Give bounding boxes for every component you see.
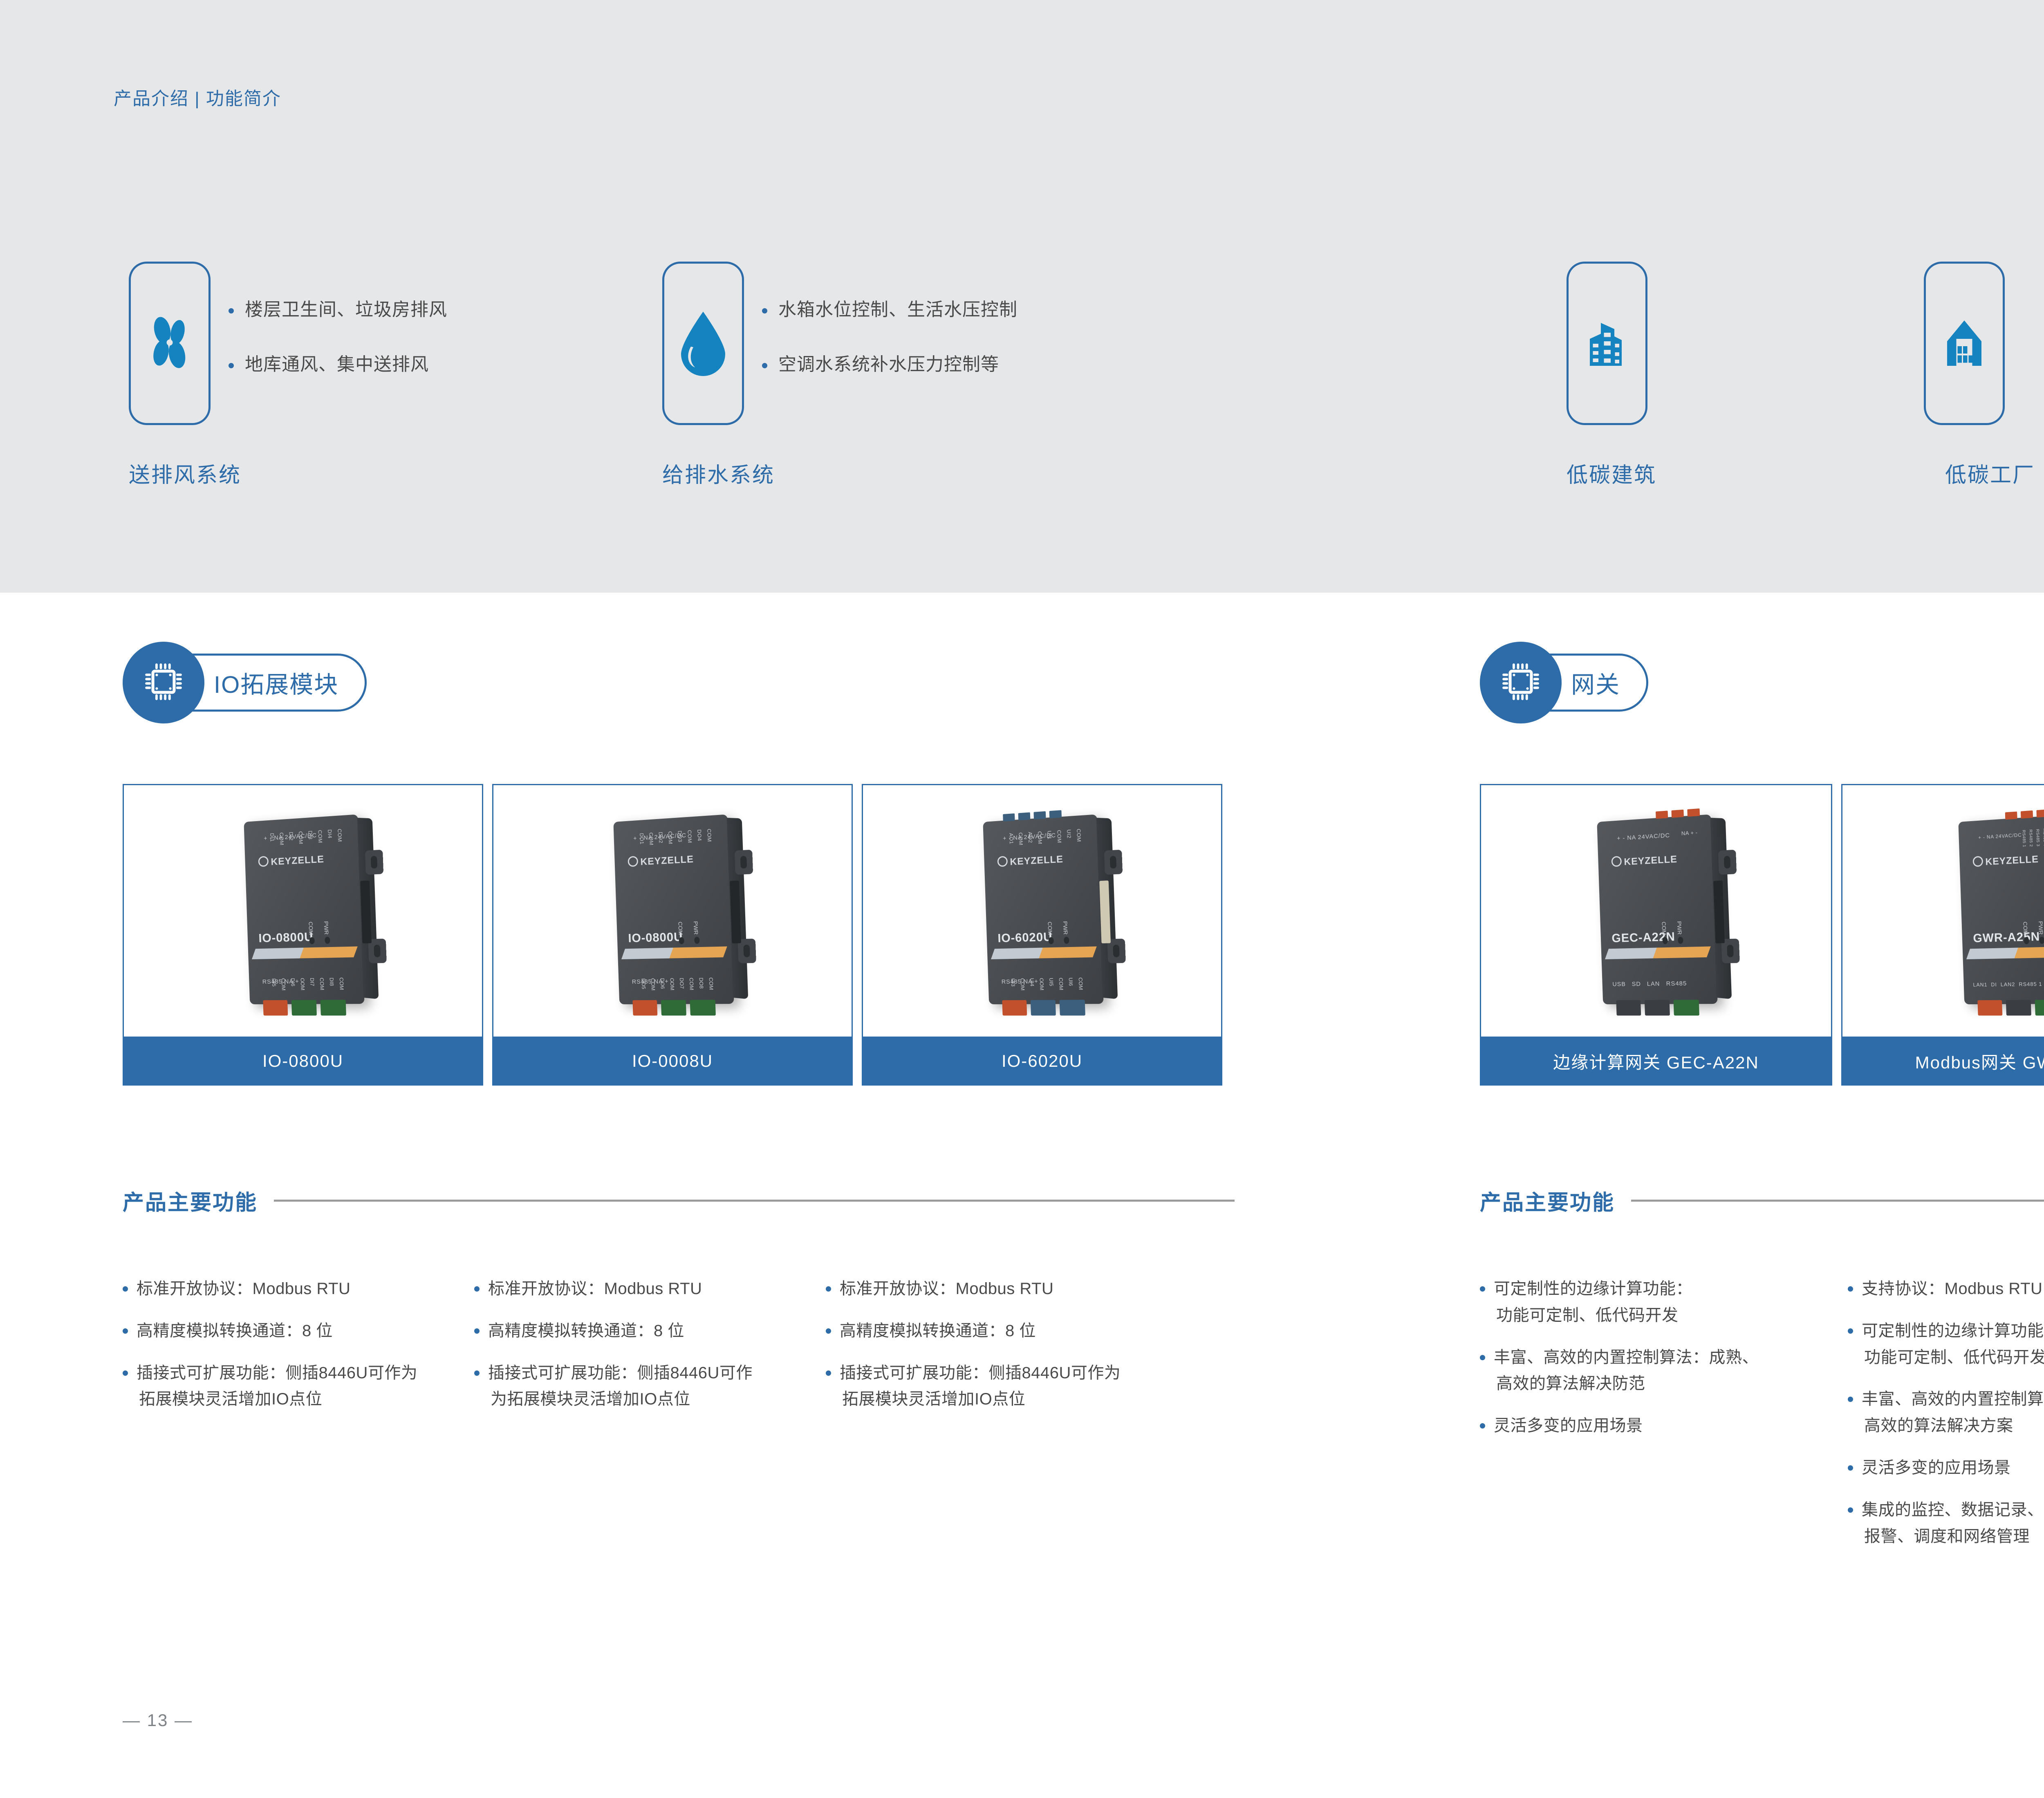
feature-text: 插接式可扩展功能：侧插8446U可作: [488, 1364, 753, 1382]
device-bottom-text: LAN1 DI LAN2 RS485 1: [1973, 981, 2042, 989]
list-item: 空调水系统补水压力控制等: [778, 356, 1018, 374]
section-label-io: IO拓展模块: [214, 665, 338, 700]
chip-icon: [139, 658, 188, 708]
features-heading: 产品主要功能: [1480, 1185, 1615, 1216]
feature-text: 可定制性的边缘计算功能：: [1494, 1280, 1692, 1298]
feature-column: 标准开放协议：Modbus RTU 高精度模拟转换通道：8 位 插接式可扩展功能…: [123, 1276, 474, 1428]
features-heading-row: 产品主要功能: [123, 1185, 1235, 1216]
feature-text-cont: 功能可定制、低代码开发: [1862, 1344, 2044, 1371]
device-connectors: [263, 1000, 346, 1016]
list-item: 高精度模拟转换通道：8 位: [474, 1318, 826, 1344]
feature-columns: 标准开放协议：Modbus RTU 高精度模拟转换通道：8 位 插接式可扩展功能…: [123, 1276, 1235, 1428]
device-brand: KEYZELLE: [997, 853, 1063, 868]
device-top-text: + - NA 24VAC/DC: [1617, 831, 1670, 843]
list-item: 水箱水位控制、生活水压控制: [778, 301, 1018, 319]
device-bottom-text: USB SD LAN RS485: [1612, 979, 1687, 989]
list-item: 插接式可扩展功能：侧插8446U可作为 拓展模块灵活增加IO点位: [826, 1360, 1177, 1413]
scenario-title-water-supply: 给排水系统: [662, 458, 775, 488]
product-image: + - NA 24VAC/DC DO1COMDO2COMDO3COMDO4COM…: [492, 784, 853, 1037]
product-card[interactable]: + - NA 24VAC/DC DO1COMDO2COMDO3COMDO4COM…: [492, 784, 853, 1086]
list-item: 灵活多变的应用场景: [1480, 1413, 1848, 1439]
device-connectors: [1977, 1000, 2044, 1016]
product-image: + - NA 24VAC/DC AO1COMAO2COMUI1COMUI2COM…: [862, 784, 1222, 1037]
low-carbon-building: [1567, 262, 1647, 425]
device-brand: KEYZELLE: [1611, 853, 1677, 868]
device-leds: COMPWR: [677, 921, 699, 935]
chip-icon-circle: [123, 642, 204, 723]
scenario-water-supply: 水箱水位控制、生活水压控制 空调水系统补水压力控制等: [662, 262, 1018, 425]
feature-text-cont: 拓展模块灵活增加IO点位: [840, 1386, 1177, 1413]
feature-text: 插接式可扩展功能：侧插8446U可作为: [137, 1364, 417, 1382]
feature-text-cont: 拓展模块灵活增加IO点位: [137, 1386, 474, 1413]
device-brand: KEYZELLE: [628, 853, 694, 868]
device-connectors: [632, 1000, 716, 1016]
device-top-pins: DO1COMDO2COMDO3COMDO4COM: [639, 828, 713, 846]
feature-columns: 可定制性的边缘计算功能： 功能可定制、低代码开发 丰富、高效的内置控制算法：成熟…: [1480, 1276, 2044, 1565]
office-building-icon-box: [1567, 262, 1647, 425]
section-label-gateway: 网关: [1571, 665, 1620, 700]
device-top-connectors: [1656, 808, 1700, 818]
list-item: 可定制性的边缘计算功能： 功能可定制、低代码开发: [1480, 1276, 1848, 1329]
feature-text-cont: 功能可定制、低代码开发: [1494, 1302, 1848, 1329]
device-connectors: [1616, 1000, 1699, 1016]
water-drop-icon: [672, 309, 734, 378]
list-item: 插接式可扩展功能：侧插8446U可作为 拓展模块灵活增加IO点位: [123, 1360, 474, 1413]
product-cards-io: + - NA 24VAC/DC DI1COMDI2COMDI3COMDI4COM…: [123, 784, 1222, 1086]
feature-text: 集成的监控、数据记录、能耗计量、: [1862, 1501, 2044, 1519]
device-illustration: + - NA 24VAC/DC RS485 1RS485 2 RS485 3RS…: [1958, 814, 2044, 1004]
office-building-icon: [1576, 312, 1638, 375]
device-model: IO-6020U: [997, 930, 1053, 945]
feature-column: 标准开放协议：Modbus RTU 高精度模拟转换通道：8 位 插接式可扩展功能…: [826, 1276, 1177, 1428]
list-item: 灵活多变的应用场景: [1848, 1455, 2044, 1481]
features-io: 产品主要功能 标准开放协议：Modbus RTU 高精度模拟转换通道：8 位 插…: [123, 1185, 1235, 1428]
device-bottom-pins: DI5COMDI6COMDI7COMDI8COM: [271, 977, 345, 990]
low-carbon-building-title: 低碳建筑: [1567, 458, 1656, 488]
low-carbon-factory: [1924, 262, 2005, 425]
features-heading-row: 产品主要功能: [1480, 1185, 2044, 1216]
feature-text-cont: 为拓展模块灵活增加IO点位: [488, 1386, 826, 1413]
device-illustration: + - NA 24VAC/DC AO1COMAO2COMUI1COMUI2COM…: [983, 814, 1103, 1004]
list-item: 标准开放协议：Modbus RTU: [123, 1276, 474, 1302]
water-supply-bullets: 水箱水位控制、生活水压控制 空调水系统补水压力控制等: [778, 262, 1018, 374]
chip-icon-circle: [1480, 642, 1562, 723]
device-top-connectors: [2005, 808, 2044, 820]
factory-icon-box: [1924, 262, 2005, 425]
heading-divider: [274, 1200, 1235, 1202]
list-item: 地库通风、集中送排风: [245, 356, 447, 374]
product-label: 边缘计算网关 GEC-A22N: [1480, 1037, 1832, 1086]
feature-text-cont: 报警、调度和网络管理: [1862, 1523, 2044, 1550]
feature-column: 支持协议：Modbus RTU 可定制性的边缘计算功能： 功能可定制、低代码开发…: [1848, 1276, 2044, 1565]
device-top-pins: RS485 1RS485 2 RS485 3RS485 4: [2021, 827, 2044, 847]
product-image: + - NA 24VAC/DC RS485 1RS485 2 RS485 3RS…: [1841, 784, 2044, 1037]
device-connectors: [1002, 1000, 1085, 1016]
ventilation-bullets: 楼层卫生间、垃圾房排风 地库通风、集中送排风: [245, 262, 447, 374]
device-top-pins: DI1COMDI2COMDI3COMDI4COM: [269, 828, 343, 846]
product-label: IO-0008U: [492, 1037, 853, 1086]
device-brand: KEYZELLE: [258, 853, 324, 868]
feature-text: 丰富、高效的内置控制算法：成熟、: [1494, 1348, 1759, 1366]
feature-text: 可定制性的边缘计算功能：: [1862, 1322, 2044, 1340]
list-item: 标准开放协议：Modbus RTU: [826, 1276, 1177, 1302]
device-brand: KEYZELLE: [1972, 853, 2039, 868]
device-bottom-pins: UI3COMUI4COMUI5COMUI6COM: [1010, 977, 1084, 990]
device-model: IO-0800U: [258, 930, 314, 945]
section-badge-io[interactable]: IO拓展模块: [123, 642, 367, 723]
device-model: IO-0800U: [628, 930, 683, 945]
device-leds: COMPWR: [2022, 921, 2044, 935]
fan-icon-box: [129, 262, 211, 425]
product-label: Modbus网关 GWR-A25N: [1841, 1037, 2044, 1086]
list-item: 楼层卫生间、垃圾房排风: [245, 301, 447, 319]
feature-column: 可定制性的边缘计算功能： 功能可定制、低代码开发 丰富、高效的内置控制算法：成熟…: [1480, 1276, 1848, 1565]
section-badge-gateway[interactable]: 网关: [1480, 642, 1648, 723]
product-card[interactable]: + - NA 24VAC/DC RS485 1RS485 2 RS485 3RS…: [1841, 784, 2044, 1086]
list-item: 高精度模拟转换通道：8 位: [123, 1318, 474, 1344]
water-drop-icon-box: [662, 262, 744, 425]
list-item: 插接式可扩展功能：侧插8446U可作 为拓展模块灵活增加IO点位: [474, 1360, 826, 1413]
list-item: 丰富、高效的内置控制算法：成熟、 高效的算法解决方案: [1848, 1386, 2044, 1439]
running-header-left: 产品介绍 | 功能简介: [114, 84, 281, 110]
device-top-pins: AO1COMAO2COMUI1COMUI2COM: [1008, 828, 1082, 846]
device-illustration: + - NA 24VAC/DC DI1COMDI2COMDI3COMDI4COM…: [244, 814, 364, 1004]
device-top-pins: NA + -: [1681, 829, 1698, 837]
list-item: 标准开放协议：Modbus RTU: [474, 1276, 826, 1302]
device-illustration: + - NA 24VAC/DC DO1COMDO2COMDO3COMDO4COM…: [613, 814, 734, 1004]
device-top-connectors: [1003, 810, 1062, 822]
product-image: + - NA 24VAC/DC NA + - KEYZELLE GEC-A22N…: [1480, 784, 1832, 1037]
device-top-text: + - NA 24VAC/DC: [1978, 831, 2022, 841]
fan-icon: [139, 312, 200, 375]
product-label: IO-0800U: [123, 1037, 483, 1086]
product-cards-gateway: + - NA 24VAC/DC NA + - KEYZELLE GEC-A22N…: [1480, 784, 2044, 1086]
device-bottom-pins: DO5COMDO6COMDO7COMDO8COM: [641, 977, 715, 990]
list-item: 丰富、高效的内置控制算法：成熟、 高效的算法解决防范: [1480, 1344, 1848, 1397]
list-item: 高精度模拟转换通道：8 位: [826, 1318, 1177, 1344]
factory-icon: [1934, 312, 1995, 375]
features-gateway: 产品主要功能 可定制性的边缘计算功能： 功能可定制、低代码开发 丰富、高效的内置…: [1480, 1185, 2044, 1565]
feature-text-cont: 高效的算法解决防范: [1494, 1370, 1848, 1397]
product-card[interactable]: + - NA 24VAC/DC NA + - KEYZELLE GEC-A22N…: [1480, 784, 1832, 1086]
list-item: 支持协议：Modbus RTU: [1848, 1276, 2044, 1302]
feature-text: 丰富、高效的内置控制算法：成熟、: [1862, 1390, 2044, 1408]
device-illustration: + - NA 24VAC/DC NA + - KEYZELLE GEC-A22N…: [1597, 814, 1717, 1004]
product-image: + - NA 24VAC/DC DI1COMDI2COMDI3COMDI4COM…: [123, 784, 483, 1037]
chip-icon: [1497, 658, 1545, 708]
feature-text: 插接式可扩展功能：侧插8446U可作为: [840, 1364, 1121, 1382]
list-item: 可定制性的边缘计算功能： 功能可定制、低代码开发: [1848, 1318, 2044, 1371]
product-card[interactable]: + - NA 24VAC/DC AO1COMAO2COMUI1COMUI2COM…: [862, 784, 1222, 1086]
product-card[interactable]: + - NA 24VAC/DC DI1COMDI2COMDI3COMDI4COM…: [123, 784, 483, 1086]
device-leds: COMPWR: [1661, 921, 1683, 935]
list-item: 集成的监控、数据记录、能耗计量、 报警、调度和网络管理: [1848, 1497, 2044, 1550]
features-heading: 产品主要功能: [123, 1185, 258, 1216]
scenario-ventilation: 楼层卫生间、垃圾房排风 地库通风、集中送排风: [129, 262, 447, 425]
low-carbon-factory-title: 低碳工厂: [1945, 458, 2035, 488]
feature-column: 标准开放协议：Modbus RTU 高精度模拟转换通道：8 位 插接式可扩展功能…: [474, 1276, 826, 1428]
device-leds: COMPWR: [307, 921, 330, 935]
page-number-left: — 13 —: [123, 1711, 193, 1730]
scenario-title-ventilation: 送排风系统: [129, 458, 241, 488]
heading-divider: [1631, 1200, 2044, 1202]
product-label: IO-6020U: [862, 1037, 1222, 1086]
device-leds: COMPWR: [1047, 921, 1069, 935]
feature-text-cont: 高效的算法解决方案: [1862, 1413, 2044, 1439]
